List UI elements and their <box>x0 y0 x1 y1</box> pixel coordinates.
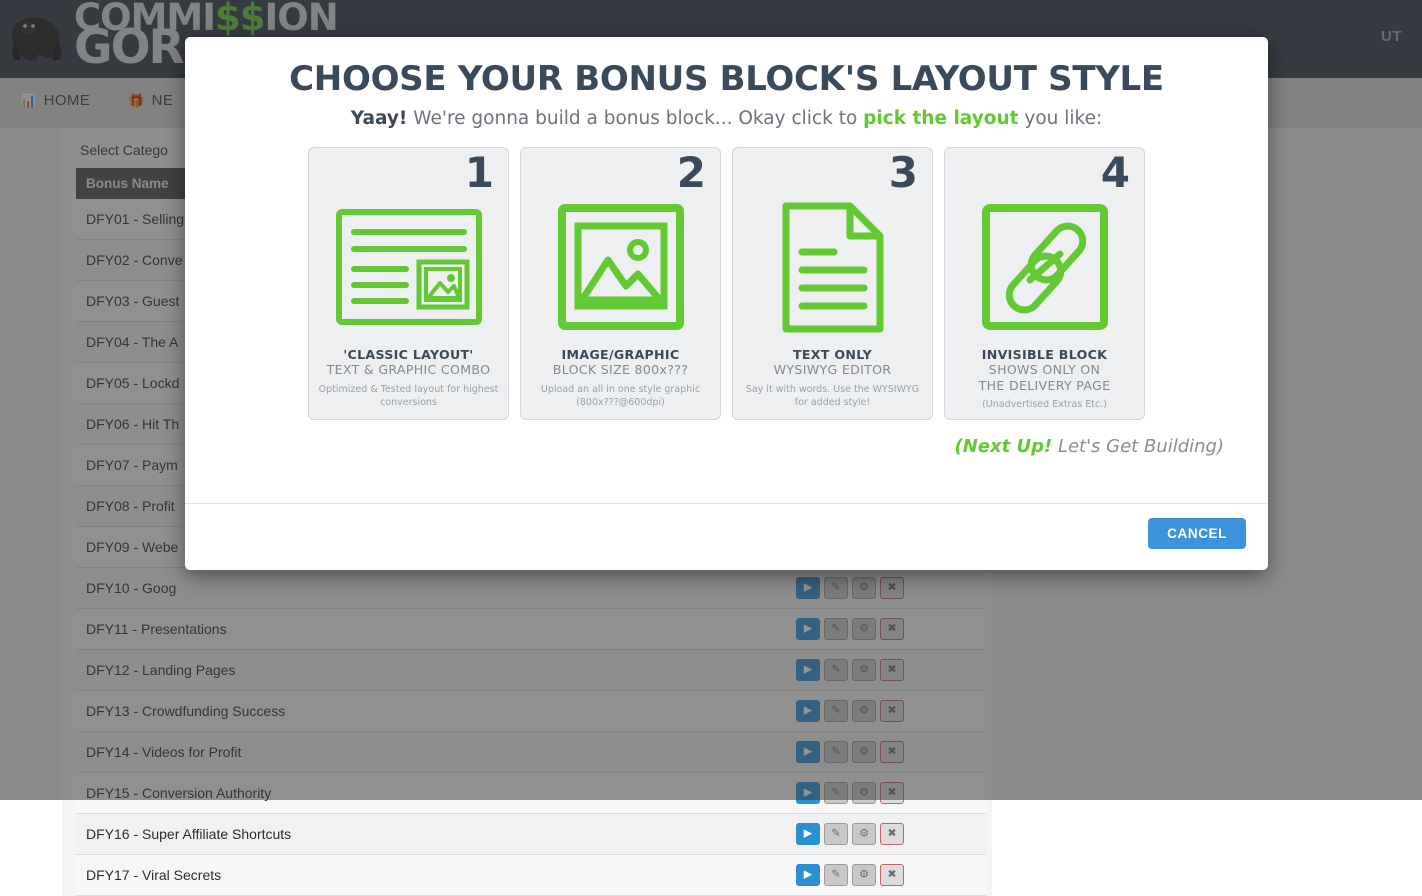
delete-button-glyph: ✖ <box>887 870 896 881</box>
subtitle-end: you like: <box>1024 108 1102 129</box>
card-cap1-2: IMAGE/GRAPHIC <box>521 347 720 362</box>
next-up-green: (Next Up! <box>955 436 1053 457</box>
layout-option-cards: 1'CLASSIC LAYOUT'TEXT & GRAPHIC COMBOOpt… <box>215 147 1238 420</box>
layout-card-2[interactable]: 2IMAGE/GRAPHICBLOCK SIZE 800x???Upload a… <box>520 147 721 420</box>
text-document-icon <box>758 195 908 339</box>
duplicate-button-glyph: ⚙ <box>859 829 869 840</box>
card-subtext-1: Optimized & Tested layout for highest co… <box>309 384 508 410</box>
classic-layout-icon <box>334 195 484 339</box>
link-chain-icon <box>970 195 1120 339</box>
next-up-gray: Let's Get Building) <box>1058 436 1224 457</box>
card-cap1-1: 'CLASSIC LAYOUT' <box>309 347 508 362</box>
edit-button[interactable]: ✎ <box>824 823 848 845</box>
cell-actions: ▶✎⚙✖ <box>786 814 986 855</box>
image-graphic-icon <box>546 195 696 339</box>
layout-card-1[interactable]: 1'CLASSIC LAYOUT'TEXT & GRAPHIC COMBOOpt… <box>308 147 509 420</box>
cancel-button[interactable]: CANCEL <box>1148 518 1246 549</box>
card-cap1-3: TEXT ONLY <box>733 347 932 362</box>
cell-actions: ▶✎⚙✖ <box>786 855 986 896</box>
edit-button-glyph: ✎ <box>831 829 840 840</box>
delete-button-glyph: ✖ <box>887 829 896 840</box>
modal-subtitle: Yaay! We're gonna build a bonus block...… <box>215 108 1238 129</box>
subtitle-middle: We're gonna build a bonus block... Okay … <box>413 108 857 129</box>
card-caption-4: INVISIBLE BLOCKSHOWS ONLY ONTHE DELIVERY… <box>974 347 1115 412</box>
card-number-3: 3 <box>889 152 918 194</box>
layout-card-3[interactable]: 3TEXT ONLYWYSIWYG EDITORSay it with word… <box>732 147 933 420</box>
edit-button-glyph: ✎ <box>831 870 840 881</box>
cell-bonus-name: DFY17 - Viral Secrets <box>76 855 786 896</box>
card-subtext-2: Upload an all in one style graphic (800x… <box>521 384 720 410</box>
subtitle-highlight: pick the layout <box>863 108 1018 129</box>
card-cap2-4: SHOWS ONLY ON <box>974 362 1115 377</box>
duplicate-button-glyph: ⚙ <box>859 870 869 881</box>
delete-button[interactable]: ✖ <box>880 823 904 845</box>
card-subtext-4: (Unadvertised Extras Etc.) <box>974 399 1115 412</box>
card-cap2-1: TEXT & GRAPHIC COMBO <box>309 362 508 377</box>
table-row[interactable]: DFY16 - Super Affiliate Shortcuts▶✎⚙✖ <box>76 814 986 855</box>
card-subtext-3: Say it with words. Use the WYSIWYG for a… <box>733 384 932 410</box>
card-cap3-4: THE DELIVERY PAGE <box>974 378 1115 393</box>
layout-style-modal: CHOOSE YOUR BONUS BLOCK'S LAYOUT STYLE Y… <box>185 37 1268 570</box>
card-number-2: 2 <box>677 152 706 194</box>
modal-footer: CANCEL <box>185 503 1268 570</box>
card-cap2-2: BLOCK SIZE 800x??? <box>521 362 720 377</box>
view-button[interactable]: ▶ <box>796 864 820 886</box>
duplicate-button[interactable]: ⚙ <box>852 864 876 886</box>
card-number-1: 1 <box>465 152 494 194</box>
layout-card-4[interactable]: 4INVISIBLE BLOCKSHOWS ONLY ONTHE DELIVER… <box>944 147 1145 420</box>
card-caption-2: IMAGE/GRAPHICBLOCK SIZE 800x???Upload an… <box>521 347 720 409</box>
card-number-4: 4 <box>1101 152 1130 194</box>
table-row[interactable]: DFY17 - Viral Secrets▶✎⚙✖ <box>76 855 986 896</box>
card-cap1-4: INVISIBLE BLOCK <box>974 347 1115 362</box>
duplicate-button[interactable]: ⚙ <box>852 823 876 845</box>
cell-bonus-name: DFY16 - Super Affiliate Shortcuts <box>76 814 786 855</box>
card-caption-1: 'CLASSIC LAYOUT'TEXT & GRAPHIC COMBOOpti… <box>309 347 508 409</box>
next-up-hint: (Next Up! Let's Get Building) <box>215 436 1224 457</box>
view-button-glyph: ▶ <box>804 870 812 881</box>
modal-body: CHOOSE YOUR BONUS BLOCK'S LAYOUT STYLE Y… <box>185 37 1268 457</box>
view-button[interactable]: ▶ <box>796 823 820 845</box>
view-button-glyph: ▶ <box>804 829 812 840</box>
card-caption-3: TEXT ONLYWYSIWYG EDITORSay it with words… <box>733 347 932 409</box>
modal-title: CHOOSE YOUR BONUS BLOCK'S LAYOUT STYLE <box>215 59 1238 99</box>
edit-button[interactable]: ✎ <box>824 864 848 886</box>
subtitle-exclaim: Yaay! <box>351 108 408 129</box>
card-cap2-3: WYSIWYG EDITOR <box>733 362 932 377</box>
delete-button[interactable]: ✖ <box>880 864 904 886</box>
